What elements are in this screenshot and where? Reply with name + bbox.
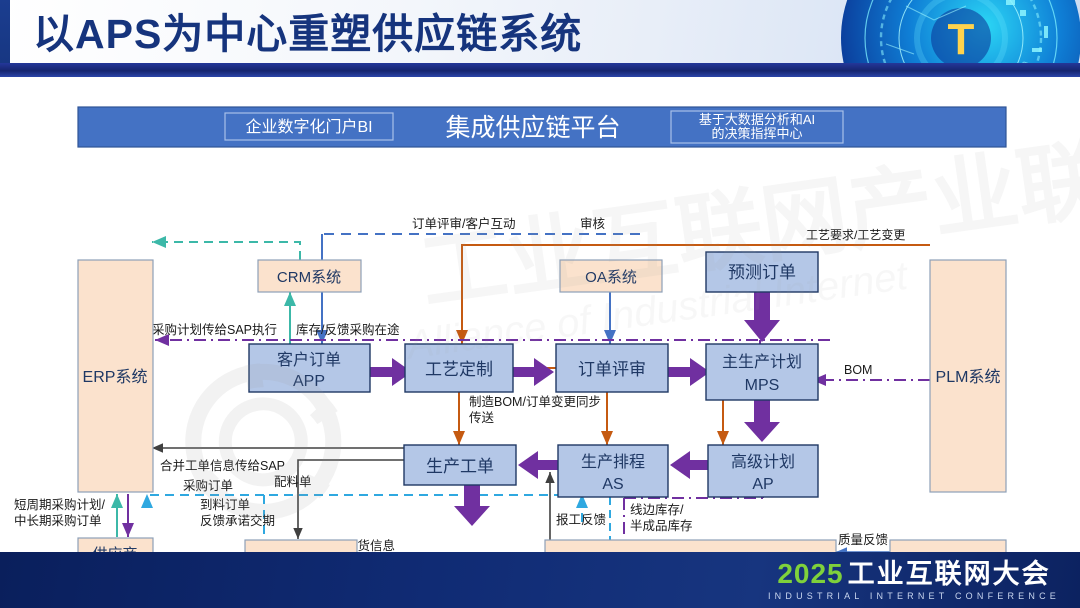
label-arrival-order-l2: 反馈承诺交期 [200,513,275,528]
node-forecast-order-label: 预测订单 [728,263,796,282]
arrow-mps-to-ap [744,400,780,442]
node-customer-order-app[interactable]: 客户订单 APP [249,344,370,392]
conference-name-cn: 工业互联网大会 [848,559,1051,589]
node-plm-label: PLM系统 [936,368,1001,386]
node-order-review-label: 订单评审 [578,360,646,379]
conference-logo: 2025 工业互联网大会 INDUSTRIAL INTERNET CONFERE… [768,558,1060,602]
page-title: 以APS为中心重塑供应链系统 [33,8,582,60]
arrow-review-to-mps [668,358,710,386]
label-order-review-customer: 订单评审/客户互动 [412,216,515,231]
node-customer-order-label-l1: 客户订单 [277,351,341,369]
flow-mes-qms: 质量反馈 检验申请 [836,533,890,552]
label-inventory-feedback: 库存/反馈采购在途 [296,322,400,337]
node-plm[interactable]: PLM系统 [930,260,1006,492]
flow-erp-supplier: 短周期采购计划/ 中长期采购订单 [14,494,128,537]
arrow-as-to-workorder [518,451,560,479]
label-bom-sync-l1: 制造BOM/订单变更同步 [469,394,601,409]
node-oa-label: OA系统 [585,269,637,286]
label-quality-feedback: 质量反馈 [838,533,888,547]
node-supplier[interactable]: 供应商 系统 [78,538,153,552]
label-line-side-stock-l2: 半成品库存 [630,518,693,533]
flow-bom-plm-to-ap: BOM [812,363,930,380]
node-work-order[interactable]: 生产工单 [404,445,516,485]
portal-bi-label: 企业数字化门户BI [245,118,372,136]
node-erp-label: ERP系统 [83,368,148,386]
flow-purchase-plan-sap: 采购计划传给SAP执行 库存/反馈采购在途 [152,322,830,340]
label-line-side-stock-l1: 线边库存/ [630,502,684,517]
ai-center-label-l2: 的决策指挥中心 [711,126,802,141]
flow-process-requirement: 工艺要求/工艺变更 [462,227,930,344]
node-oa[interactable]: OA系统 [560,260,662,292]
node-advanced-plan-label-l2: AP [752,476,773,493]
ai-center-label-l1: 基于大数据分析和AI [699,112,815,127]
label-arrival-order-l1: 到料订单 [200,498,250,512]
node-crm[interactable]: CRM系统 [258,260,361,292]
node-mps-label-l2: MPS [745,377,780,394]
arrow-workorder-to-mes [454,482,490,526]
label-picking-list: 配料单 [274,475,312,489]
node-supplier-label-l1: 供应商 [92,545,137,552]
label-bom: BOM [844,363,872,377]
platform-bar: 企业数字化门户BI 集成供应链平台 基于大数据分析和AI 的决策指挥中心 [78,107,1006,147]
platform-title: 集成供应链平台 [445,114,620,142]
label-short-long-plan-l1: 短周期采购计划/ [14,497,106,512]
node-mes[interactable]: MES系统 [545,540,836,552]
label-purchase-plan-to-sap: 采购计划传给SAP执行 [152,322,277,337]
node-scheduling[interactable]: 生产排程 AS [558,445,668,497]
node-forecast-order[interactable]: 预测订单 [706,252,818,292]
conference-year: 2025 [777,559,843,589]
slide-root: 以APS为中心重塑供应链系统 [0,0,1080,608]
supply-chain-diagram: 企业数字化门户BI 集成供应链平台 基于大数据分析和AI 的决策指挥中心 [0,82,1080,552]
node-mps-label-l1: 主生产计划 [722,353,802,371]
label-merge-workorder-to-sap: 合并工单信息传给SAP [160,458,285,473]
slide-footer: 2025 工业互联网大会 INDUSTRIAL INTERNET CONFERE… [0,552,1080,608]
arrow-process-to-review [512,358,554,386]
node-process-custom-label: 工艺定制 [425,360,493,379]
node-crm-label: CRM系统 [277,269,341,286]
node-qms[interactable]: QMS系统 [890,540,1006,552]
node-erp[interactable]: ERP系统 [78,260,153,492]
node-wms[interactable]: WMS系统 [245,540,357,552]
node-scheduling-label-l1: 生产排程 [581,453,645,471]
flow-picking-wms-mes: 配料 到货信息 [345,538,545,552]
node-advanced-plan[interactable]: 高级计划 AP [708,445,818,497]
svg-text:T: T [948,15,975,64]
slide-title-band: 以APS为中心重塑供应链系统 [0,0,1080,82]
node-mps[interactable]: 主生产计划 MPS [706,344,818,400]
node-order-review[interactable]: 订单评审 [556,344,668,392]
arrow-ap-to-as [670,451,712,479]
conference-name-en: INDUSTRIAL INTERNET CONFERENCE [768,591,1060,601]
node-advanced-plan-label-l1: 高级计划 [731,453,795,471]
label-work-report-feedback: 报工反馈 [556,512,606,527]
label-purchase-order: 采购订单 [183,478,233,493]
node-process-custom[interactable]: 工艺定制 [405,344,513,392]
title-underline-bar [0,63,1080,77]
node-work-order-label: 生产工单 [426,457,494,476]
label-short-long-plan-l2: 中长期采购订单 [14,513,102,528]
node-customer-order-label-l2: APP [293,373,325,390]
label-audit: 审核 [580,216,606,231]
node-scheduling-label-l2: AS [602,476,623,493]
label-bom-sync-l2: 传送 [469,410,495,425]
label-process-req-change: 工艺要求/工艺变更 [806,227,905,242]
arrow-forecast-to-mps [744,292,780,342]
diagram-svg: 企业数字化门户BI 集成供应链平台 基于大数据分析和AI 的决策指挥中心 [0,82,1080,552]
